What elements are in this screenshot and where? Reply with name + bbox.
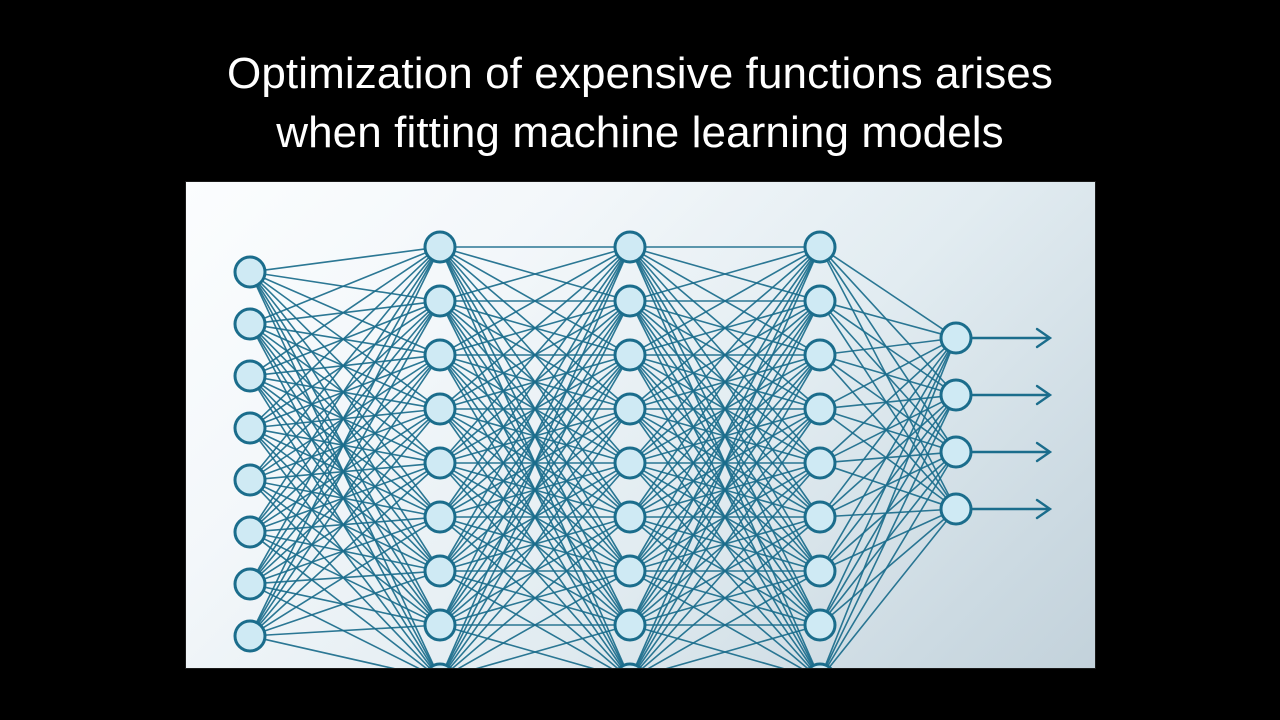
network-edge: [265, 587, 426, 622]
network-node-hidden-layer-2: [615, 232, 645, 262]
network-edge: [834, 359, 941, 391]
network-edge: [264, 253, 426, 319]
network-edge: [261, 335, 430, 507]
network-node-hidden-layer-1: [425, 610, 455, 640]
slide-canvas: Optimization of expensive functions aris…: [0, 0, 1280, 720]
network-edge: [826, 409, 949, 666]
network-node-hidden-layer-3: [805, 394, 835, 424]
network-edge: [265, 626, 425, 635]
network-node-output-layer: [941, 380, 971, 410]
network-edge: [265, 249, 425, 270]
network-edges: [256, 247, 950, 668]
network-node-hidden-layer-3: [805, 502, 835, 532]
network-edge: [834, 515, 943, 565]
network-edge: [826, 352, 951, 665]
network-node-hidden-layer-1: [425, 448, 455, 478]
network-node-hidden-layer-1: [425, 502, 455, 532]
network-edge: [265, 639, 426, 668]
network-node-input-layer: [235, 569, 265, 599]
network-node-hidden-layer-2: [615, 610, 645, 640]
network-edge: [260, 439, 429, 614]
network-edge: [835, 340, 941, 353]
output-arrows: [971, 329, 1050, 518]
network-node-output-layer: [941, 323, 971, 353]
network-node-hidden-layer-2: [615, 340, 645, 370]
network-node-input-layer: [235, 361, 265, 391]
network-node-output-layer: [941, 437, 971, 467]
neural-network-diagram: [186, 182, 1095, 668]
network-edge: [832, 255, 943, 329]
network-node-hidden-layer-2: [615, 394, 645, 424]
network-node-hidden-layer-3: [805, 232, 835, 262]
network-edge: [828, 465, 949, 666]
network-edge: [834, 305, 941, 334]
network-node-hidden-layer-3: [805, 286, 835, 316]
network-node-input-layer: [235, 257, 265, 287]
network-node-input-layer: [235, 517, 265, 547]
network-node-hidden-layer-3: [805, 448, 835, 478]
network-node-hidden-layer-3: [805, 340, 835, 370]
neural-network-figure: [186, 182, 1095, 668]
network-edge: [829, 521, 946, 668]
network-node-input-layer: [235, 621, 265, 651]
network-edge: [830, 258, 946, 384]
network-node-hidden-layer-1: [425, 394, 455, 424]
network-node-hidden-layer-1: [425, 340, 455, 370]
network-edge: [261, 283, 430, 453]
network-edge: [828, 260, 947, 440]
network-node-hidden-layer-1: [425, 286, 455, 316]
network-edge: [833, 402, 942, 457]
network-node-input-layer: [235, 465, 265, 495]
network-node-hidden-layer-3: [805, 556, 835, 586]
network-node-hidden-layer-1: [425, 556, 455, 586]
network-node-hidden-layer-1: [425, 232, 455, 262]
network-node-hidden-layer-2: [615, 502, 645, 532]
network-node-input-layer: [235, 413, 265, 443]
network-node-input-layer: [235, 309, 265, 339]
network-node-hidden-layer-2: [615, 448, 645, 478]
network-node-hidden-layer-3: [805, 610, 835, 640]
network-node-output-layer: [941, 494, 971, 524]
network-node-hidden-layer-2: [615, 556, 645, 586]
network-node-hidden-layer-2: [615, 286, 645, 316]
page-title: Optimization of expensive functions aris…: [0, 44, 1280, 163]
